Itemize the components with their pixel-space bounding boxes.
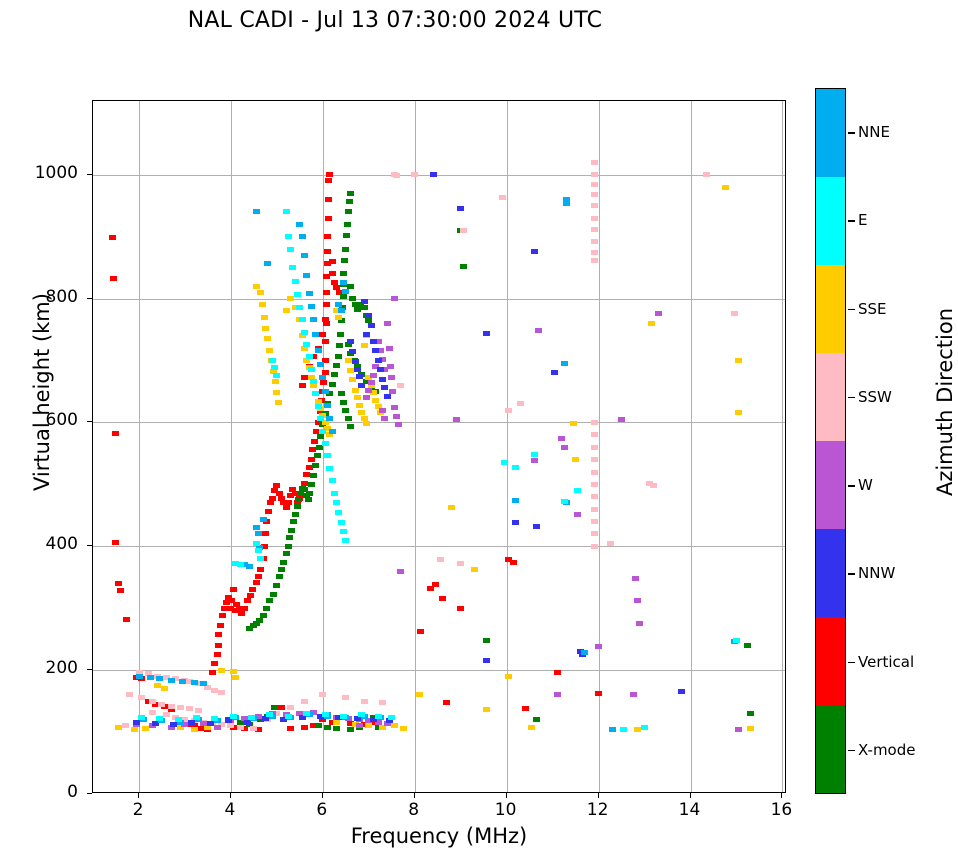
echo-point-e [193, 715, 200, 720]
echo-point-e [312, 391, 319, 396]
echo-point-sse [257, 290, 264, 295]
echo-point-ssw [591, 239, 598, 244]
echo-point-x-mode [345, 416, 352, 421]
echo-point-nne [308, 304, 315, 309]
echo-point-ssw [437, 557, 444, 562]
echo-point-e [388, 715, 395, 720]
y-tick [87, 545, 92, 546]
echo-point-e [310, 379, 317, 384]
echo-point-sse [191, 727, 198, 732]
echo-point-ssw [397, 383, 404, 388]
colorbar-label-nne: NNE [858, 123, 890, 141]
echo-point-ssw [149, 710, 156, 715]
echo-point-x-mode [266, 598, 273, 603]
echo-point-x-mode [324, 725, 331, 730]
echo-point-nnw [483, 331, 490, 336]
colorbar-segment-ssw[interactable] [816, 353, 845, 441]
echo-point-e [289, 265, 296, 270]
echo-point-ssw [287, 705, 294, 710]
echo-point-nnw [368, 323, 375, 328]
echo-point-e [331, 491, 338, 496]
echo-point-sse [400, 726, 407, 731]
echo-point-vertical [323, 302, 330, 307]
echo-point-vertical [285, 500, 292, 505]
echo-point-vertical [311, 439, 318, 444]
colorbar-segment-x-mode[interactable] [816, 705, 845, 793]
echo-point-sse [365, 723, 372, 728]
echo-point-vertical [432, 582, 439, 587]
echo-point-x-mode [285, 544, 292, 549]
echo-point-e [340, 714, 347, 719]
echo-point-x-mode [460, 264, 467, 269]
echo-point-sse [266, 348, 273, 353]
echo-point-sse [131, 727, 138, 732]
echo-point-e [303, 711, 310, 716]
echo-point-ssw [591, 192, 598, 197]
echo-point-x-mode [341, 258, 348, 263]
echo-point-x-mode [310, 473, 317, 478]
echo-point-vertical [301, 725, 308, 730]
echo-point-ssw [138, 695, 145, 700]
echo-point-sse [528, 725, 535, 730]
echo-point-ssw [517, 401, 524, 406]
echo-point-ssw [591, 457, 598, 462]
echo-point-sse [747, 726, 754, 731]
colorbar-label-e: E [858, 211, 867, 229]
echo-point-w [391, 296, 398, 301]
echo-point-x-mode [280, 560, 287, 565]
y-tick [87, 298, 92, 299]
colorbar-label-vertical: Vertical [858, 653, 914, 671]
echo-point-w [574, 512, 581, 517]
x-tick [230, 793, 231, 798]
x-tick [506, 793, 507, 798]
echo-point-x-mode [294, 504, 301, 509]
echo-point-nnw [372, 348, 379, 353]
echo-point-ssw [227, 723, 234, 728]
echo-point-e [230, 714, 237, 719]
echo-point-nnw [347, 339, 354, 344]
echo-point-nne [136, 674, 143, 679]
echo-point-e [138, 715, 145, 720]
echo-point-ssw [186, 706, 193, 711]
echo-point-x-mode [340, 294, 347, 299]
echo-point-nne [335, 302, 342, 307]
echo-point-w [535, 328, 542, 333]
echo-point-x-mode [342, 247, 349, 252]
echo-point-e [733, 638, 740, 643]
echo-point-nne [322, 389, 329, 394]
echo-point-w [384, 321, 391, 326]
echo-point-ssw [591, 432, 598, 437]
echo-point-e [257, 556, 264, 561]
colorbar-tick [848, 485, 855, 487]
echo-point-x-mode [347, 191, 354, 196]
echo-point-e [285, 234, 292, 239]
echo-point-sse [483, 707, 490, 712]
echo-point-ssw [591, 420, 598, 425]
echo-point-nnw [356, 374, 363, 379]
echo-point-nne [253, 209, 260, 214]
echo-point-ssw [177, 705, 184, 710]
echo-point-nnw [457, 206, 464, 211]
echo-point-nnw [349, 349, 356, 354]
echo-point-sse [735, 358, 742, 363]
echo-point-x-mode [263, 606, 270, 611]
echo-point-vertical [323, 290, 330, 295]
colorbar-tick [848, 397, 855, 399]
echo-point-ssw [379, 700, 386, 705]
colorbar-segment-e[interactable] [816, 177, 845, 265]
echo-point-nne [200, 681, 207, 686]
echo-point-sse [253, 284, 260, 289]
echo-point-nne [315, 348, 322, 353]
echo-point-x-mode [338, 391, 345, 396]
echo-point-vertical [115, 581, 122, 586]
echo-point-w [554, 692, 561, 697]
echo-point-x-mode [346, 199, 353, 204]
colorbar-segment-sse[interactable] [816, 265, 845, 353]
echo-point-vertical [123, 617, 130, 622]
echo-point-x-mode [305, 497, 312, 502]
echo-point-x-mode [288, 528, 295, 533]
echo-point-ssw [591, 470, 598, 475]
echo-point-x-mode [270, 592, 277, 597]
echo-point-vertical [457, 606, 464, 611]
echo-point-ssw [411, 172, 418, 177]
echo-point-nne [329, 429, 336, 434]
echo-point-nne [317, 362, 324, 367]
colorbar[interactable] [815, 88, 846, 794]
echo-point-w [395, 422, 402, 427]
echo-point-sse [335, 315, 342, 320]
echo-point-x-mode [290, 519, 297, 524]
echo-point-ssw [650, 483, 657, 488]
echo-point-nne [563, 201, 570, 206]
echo-point-w [387, 364, 394, 369]
echo-point-nnw [533, 524, 540, 529]
echo-point-x-mode [312, 463, 319, 468]
echo-point-ssw [195, 708, 202, 713]
echo-point-ssw [301, 699, 308, 704]
colorbar-label-ssw: SSW [858, 388, 892, 406]
echo-point-ssw [460, 228, 467, 233]
echo-point-e [322, 441, 329, 446]
echo-point-x-mode [271, 705, 278, 710]
echo-point-e [333, 500, 340, 505]
echo-point-ssw [591, 216, 598, 221]
echo-point-sse [448, 505, 455, 510]
echo-point-ssw [607, 541, 614, 546]
echo-point-vertical [238, 611, 245, 616]
echo-point-sse [230, 669, 237, 674]
echo-point-nne [561, 361, 568, 366]
plot-area [92, 100, 786, 793]
echo-point-w [388, 375, 395, 380]
echo-point-e [211, 716, 218, 721]
echo-point-sse [354, 395, 361, 400]
echo-point-ssw [591, 182, 598, 187]
echo-point-vertical [247, 593, 254, 598]
echo-point-sse [352, 388, 359, 393]
echo-point-sse [416, 692, 423, 697]
echo-point-sse [261, 315, 268, 320]
echo-point-sse [275, 400, 282, 405]
echo-point-x-mode [333, 363, 340, 368]
colorbar-segment-nne[interactable] [816, 89, 845, 177]
echo-point-e [299, 317, 306, 322]
echo-point-x-mode [308, 482, 315, 487]
echo-point-ssw [591, 494, 598, 499]
echo-point-x-mode [317, 434, 324, 439]
echo-point-ssw [591, 160, 598, 165]
echo-point-nne [303, 273, 310, 278]
echo-point-vertical [215, 632, 222, 637]
echo-point-vertical [244, 598, 251, 603]
echo-point-e [358, 712, 365, 717]
echo-point-w [370, 373, 377, 378]
y-tick [87, 421, 92, 422]
echo-point-vertical [325, 216, 332, 221]
echo-point-e [329, 478, 336, 483]
echo-point-w [630, 692, 637, 697]
echo-point-e [561, 499, 568, 504]
echo-point-x-mode [286, 535, 293, 540]
x-tick-label: 14 [660, 800, 720, 820]
y-tick [87, 174, 92, 175]
echo-point-vertical [273, 483, 280, 488]
y-tick [87, 669, 92, 670]
echo-point-vertical [267, 500, 274, 505]
echo-point-x-mode [292, 512, 299, 517]
x-tick [414, 793, 415, 798]
echo-point-x-mode [349, 296, 356, 301]
y-tick [87, 793, 92, 794]
echo-point-w [214, 725, 221, 730]
echo-point-e [287, 247, 294, 252]
echo-point-nne [340, 280, 347, 285]
echo-point-sse [232, 675, 239, 680]
colorbar-tick [848, 309, 855, 311]
echo-point-vertical [329, 259, 336, 264]
echo-point-x-mode [331, 372, 338, 377]
echo-point-w [381, 416, 388, 421]
echo-point-ssw [149, 699, 156, 704]
colorbar-label-nnw: NNW [858, 564, 895, 582]
echo-point-x-mode [256, 618, 263, 623]
echo-point-x-mode [329, 382, 336, 387]
echo-point-e [292, 279, 299, 284]
echo-point-w [558, 436, 565, 441]
echo-point-vertical [299, 383, 306, 388]
echo-point-nnw [483, 658, 490, 663]
echo-point-nnw [377, 367, 384, 372]
echo-point-e [308, 367, 315, 372]
echo-point-x-mode [295, 497, 302, 502]
echo-point-w [735, 727, 742, 732]
echo-point-vertical [278, 705, 285, 710]
echo-point-ssw [591, 172, 598, 177]
echo-point-w [595, 644, 602, 649]
echo-point-x-mode [347, 727, 354, 732]
echo-point-ssw [122, 723, 129, 728]
echo-point-vertical [417, 629, 424, 634]
colorbar-label: Azimuth Direction [933, 252, 957, 552]
echo-point-x-mode [260, 613, 267, 618]
echo-point-w [386, 346, 393, 351]
echo-point-x-mode [335, 354, 342, 359]
echo-point-vertical [439, 596, 446, 601]
echo-point-nnw [379, 377, 386, 382]
echo-point-sse [272, 379, 279, 384]
colorbar-label-sse: SSE [858, 300, 887, 318]
colorbar-segment-w[interactable] [816, 441, 845, 529]
echo-point-vertical [554, 670, 561, 675]
echo-point-x-mode [314, 453, 321, 458]
echo-point-ssw [237, 725, 244, 730]
x-tick-label: 12 [568, 800, 628, 820]
echo-point-w [393, 414, 400, 419]
echo-point-vertical [257, 567, 264, 572]
echo-point-w [636, 621, 643, 626]
echo-point-sse [356, 403, 363, 408]
echo-point-x-mode [747, 711, 754, 716]
echo-point-x-mode [306, 491, 313, 496]
echo-point-nnw [370, 339, 377, 344]
x-tick-label: 2 [108, 800, 168, 820]
x-tick [690, 793, 691, 798]
colorbar-label-x-mode: X-mode [858, 741, 915, 759]
echo-point-e [322, 712, 329, 717]
echo-point-e [501, 460, 508, 465]
echo-point-nne [581, 650, 588, 655]
echo-point-ssw [342, 695, 349, 700]
colorbar-segment-vertical[interactable] [816, 617, 845, 705]
echo-point-w [356, 723, 363, 728]
echo-point-sse [273, 390, 280, 395]
echo-point-nne [253, 525, 260, 530]
echo-point-ssw [250, 726, 257, 731]
x-tick-label: 10 [476, 800, 536, 820]
echo-point-sse [264, 336, 271, 341]
y-tick-label: 1000 [8, 163, 78, 183]
echo-point-vertical [219, 613, 226, 618]
echo-point-e [315, 404, 322, 409]
echo-point-x-mode [344, 222, 351, 227]
echo-point-e [319, 429, 326, 434]
echo-point-ssw [126, 692, 133, 697]
echo-point-ssw [218, 690, 225, 695]
echo-point-ssw [163, 712, 170, 717]
echo-point-nnw [531, 249, 538, 254]
echo-point-ssw [591, 482, 598, 487]
echo-point-sse [722, 185, 729, 190]
echo-point-x-mode [336, 343, 343, 348]
echo-point-nne [168, 678, 175, 683]
echo-point-vertical [329, 271, 336, 276]
echo-point-e [271, 365, 278, 370]
echo-point-x-mode [744, 643, 751, 648]
echo-point-vertical [255, 574, 262, 579]
echo-point-e [342, 538, 349, 543]
echo-point-sse [735, 410, 742, 415]
echo-point-nnw [384, 394, 391, 399]
echo-point-w [618, 417, 625, 422]
echo-point-ssw [591, 203, 598, 208]
echo-point-ssw [505, 408, 512, 413]
echo-point-e [512, 465, 519, 470]
echo-point-vertical [269, 496, 276, 501]
echo-point-nnw [551, 370, 558, 375]
echo-point-e [283, 209, 290, 214]
echo-point-w [531, 458, 538, 463]
echo-point-e [237, 562, 244, 567]
echo-point-e [574, 488, 581, 493]
echo-point-vertical [522, 706, 529, 711]
echo-point-nnw [352, 359, 359, 364]
echo-point-vertical [443, 700, 450, 705]
echo-point-nne [246, 564, 253, 569]
echo-point-e [620, 727, 627, 732]
echo-point-vertical [241, 606, 248, 611]
echo-point-e [266, 712, 273, 717]
echo-point-vertical [326, 172, 333, 177]
echo-point-w [368, 380, 375, 385]
echo-point-e [301, 330, 308, 335]
echo-point-w [391, 405, 398, 410]
echo-point-e [255, 548, 262, 553]
echo-point-sse [372, 398, 379, 403]
x-tick-label: 8 [384, 800, 444, 820]
echo-point-sse [333, 720, 340, 725]
colorbar-label-w: W [858, 476, 873, 494]
echo-point-ssw [591, 258, 598, 263]
echo-point-nne [255, 531, 262, 536]
echo-point-w [634, 598, 641, 603]
echo-point-e [253, 541, 260, 546]
echo-point-nne [324, 403, 331, 408]
echo-point-vertical [262, 531, 269, 536]
echo-point-nne [609, 727, 616, 732]
echo-point-x-mode [343, 233, 350, 238]
echo-point-nne [342, 289, 349, 294]
echo-point-x-mode [533, 717, 540, 722]
echo-point-nne [299, 234, 306, 239]
echo-point-w [397, 569, 404, 574]
echo-point-nnw [361, 299, 368, 304]
echo-point-vertical [322, 317, 329, 322]
echo-point-vertical [287, 726, 294, 731]
echo-point-x-mode [361, 305, 368, 310]
echo-point-e [324, 453, 331, 458]
echo-point-sse [358, 410, 365, 415]
colorbar-segment-nnw[interactable] [816, 529, 845, 617]
echo-point-nnw [365, 313, 372, 318]
echo-point-nne [338, 308, 345, 313]
echo-point-vertical [215, 643, 222, 648]
echo-point-x-mode [342, 408, 349, 413]
echo-point-w [632, 576, 639, 581]
echo-point-sse [283, 308, 290, 313]
echo-point-ssw [591, 519, 598, 524]
echo-point-vertical [249, 587, 256, 592]
echo-point-sse [505, 674, 512, 679]
echo-point-e [296, 305, 303, 310]
echo-point-e [375, 714, 382, 719]
echo-point-nne [306, 291, 313, 296]
echo-point-vertical [217, 623, 224, 628]
echo-point-e [641, 725, 648, 730]
